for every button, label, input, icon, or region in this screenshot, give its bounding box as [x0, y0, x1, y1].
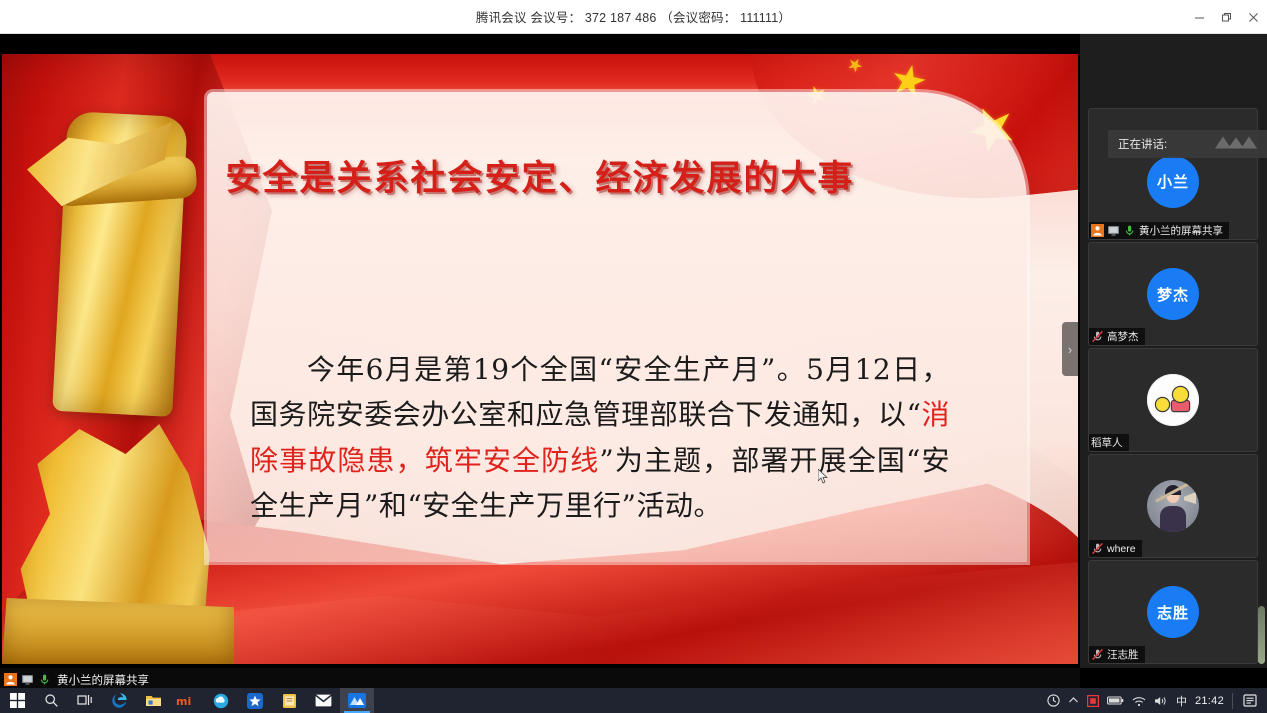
slide-title: 安全是关系社会安定、经济发展的大事 — [2, 150, 1078, 201]
volume-icon[interactable] — [1154, 695, 1168, 707]
presentation-slide: ★ ★ ★ ★ 安全是关系社会安定、经济发展的大事 今年6月是第19个全国“安全… — [2, 54, 1078, 664]
microphone-muted-icon — [1091, 648, 1104, 661]
participant-label: 高梦杰 — [1089, 328, 1145, 345]
chevron-up-icon[interactable] — [1068, 695, 1079, 706]
quote-open: “ — [907, 398, 922, 431]
cloud-app-icon[interactable] — [204, 688, 238, 713]
tencent-meeting-watermark-icon — [1213, 135, 1259, 154]
red-alert-icon[interactable] — [1087, 695, 1099, 707]
start-button[interactable] — [0, 688, 34, 713]
system-tray[interactable]: 中 21:42 — [1047, 688, 1267, 713]
edge-browser-icon[interactable] — [102, 688, 136, 713]
participant-tile[interactable]: where — [1088, 454, 1258, 558]
participant-name: 稻草人 — [1091, 435, 1123, 450]
participant-label: 汪志胜 — [1089, 646, 1145, 663]
host-icon — [1091, 224, 1104, 237]
microphone-muted-icon — [1091, 330, 1104, 343]
avatar: 梦杰 — [1147, 268, 1199, 320]
sidebar-collapse-handle[interactable]: › — [1062, 322, 1078, 376]
battery-icon[interactable] — [1107, 695, 1124, 706]
participant-tile[interactable]: 小兰 黄小兰的屏幕共享 — [1088, 108, 1258, 240]
slide-body-line-1: 今年6月是第19个全国“安全生产月”。5月12日， — [306, 353, 950, 386]
chick-large-icon — [1173, 387, 1188, 402]
microphone-on-icon — [1123, 224, 1136, 237]
participant-tile[interactable]: 稻草人 — [1088, 348, 1258, 452]
taskbar-clock[interactable]: 21:42 — [1195, 695, 1224, 707]
participants-sidebar[interactable]: 正在讲话: 小兰 — [1080, 34, 1267, 668]
screen-share-owner: 黄小兰的屏幕共享 — [57, 672, 149, 688]
avatar-figure-body — [1160, 506, 1186, 532]
window-title: 腾讯会议 会议号： 372 187 486 （会议密码： 111111） — [476, 7, 791, 26]
participant-tile[interactable]: 梦杰 高梦杰 — [1088, 242, 1258, 346]
avatar: 小兰 — [1147, 156, 1199, 208]
participant-name: where — [1107, 543, 1136, 555]
window-title-bar: 腾讯会议 会议号： 372 187 486 （会议密码： 111111） — [0, 0, 1267, 34]
close-button[interactable] — [1240, 0, 1267, 34]
microphone-on-icon — [38, 673, 51, 686]
host-icon — [4, 673, 17, 686]
chick-cart-icon — [1172, 401, 1189, 411]
mi-store-icon[interactable]: mi — [170, 688, 204, 713]
participant-name: 黄小兰的屏幕共享 — [1139, 223, 1223, 238]
search-icon[interactable] — [34, 688, 68, 713]
sidebar-scrollbar[interactable] — [1258, 606, 1265, 664]
restore-button[interactable] — [1213, 0, 1240, 34]
screen-share-icon — [1107, 224, 1120, 237]
minimize-button[interactable] — [1186, 0, 1213, 34]
participant-label: 黄小兰的屏幕共享 — [1089, 222, 1229, 239]
participant-label: 稻草人 — [1089, 434, 1129, 451]
avatar: 志胜 — [1147, 586, 1199, 638]
slide-body-text: 今年6月是第19个全国“安全生产月”。5月12日，国务院安委会办公室和应急管理部… — [250, 347, 950, 528]
tencent-meeting-taskbar-icon[interactable] — [340, 688, 374, 713]
avatar — [1147, 374, 1199, 426]
avatar-figure-broom — [1184, 492, 1196, 504]
speaking-label: 正在讲话: — [1118, 136, 1167, 152]
ime-indicator[interactable]: 中 — [1176, 693, 1187, 709]
windows-taskbar[interactable]: mi — [0, 688, 1267, 713]
file-explorer-icon[interactable] — [136, 688, 170, 713]
notes-app-icon[interactable] — [272, 688, 306, 713]
shared-screen-stage[interactable]: ★ ★ ★ ★ 安全是关系社会安定、经济发展的大事 今年6月是第19个全国“安全… — [0, 34, 1080, 668]
svg-text:mi: mi — [176, 695, 191, 707]
golden-lion-pedestal — [2, 598, 234, 664]
participant-name: 高梦杰 — [1107, 329, 1139, 344]
participant-name: 汪志胜 — [1107, 647, 1139, 662]
screen-share-icon — [21, 673, 34, 686]
speaking-indicator-banner: 正在讲话: — [1108, 130, 1267, 158]
window-controls — [1186, 0, 1267, 34]
security-shield-icon[interactable] — [1047, 694, 1060, 707]
slide-body-line-2: 国务院安委会办公室和应急管理部联合下发通知，以 — [250, 398, 907, 431]
slide-body-line-3: ”为主题，部署开展 — [599, 444, 847, 477]
chick-small-icon — [1156, 398, 1169, 411]
notifications-icon[interactable] — [1241, 694, 1259, 707]
star-app-icon[interactable] — [238, 688, 272, 713]
avatar — [1147, 480, 1199, 532]
tray-divider — [1232, 693, 1233, 709]
wifi-icon[interactable] — [1132, 695, 1146, 707]
mail-icon[interactable] — [306, 688, 340, 713]
participant-label: where — [1089, 540, 1142, 557]
task-view-icon[interactable] — [68, 688, 102, 713]
participant-tile[interactable]: 志胜 汪志胜 — [1088, 560, 1258, 664]
microphone-muted-icon — [1091, 542, 1104, 555]
